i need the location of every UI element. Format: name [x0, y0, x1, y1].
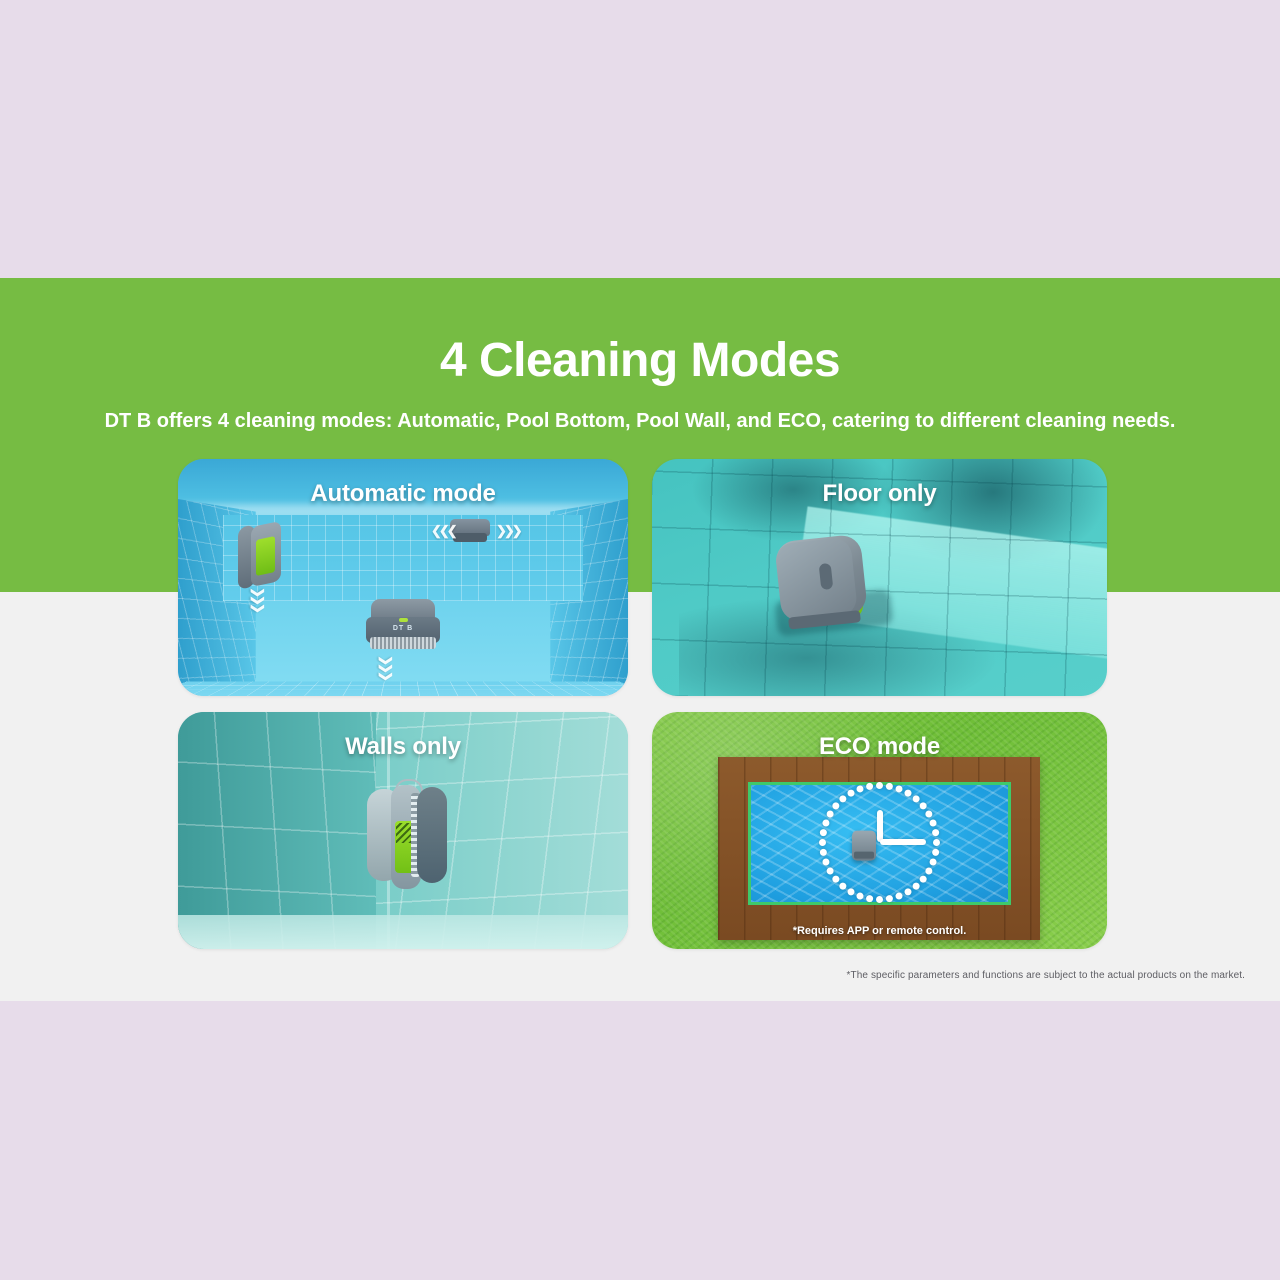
mode-card-walls-only[interactable]: Walls only	[178, 712, 628, 949]
chevron-right-icon: ❯❯❯	[496, 523, 520, 539]
mode-card-eco[interactable]: ECO mode *Requires APP or remote control…	[652, 712, 1107, 949]
product-feature-page: 4 Cleaning Modes DT B offers 4 cleaning …	[0, 0, 1280, 1280]
robot-on-wall	[367, 785, 453, 891]
chevron-up-icon: ❯❯❯	[250, 587, 266, 611]
card-label-automatic: Automatic mode	[178, 480, 628, 508]
page-subtitle: DT B offers 4 cleaning modes: Automatic,…	[0, 408, 1280, 434]
cleaning-modes-grid: ❯❯❯ ❮❮❮ ❯❯❯ DT B ❯❯❯ Automatic mode	[178, 459, 1107, 949]
chevron-down-icon: ❯❯❯	[378, 655, 394, 679]
card-label-eco: ECO mode	[652, 733, 1107, 761]
robot-climbing-wall	[238, 518, 284, 594]
mode-card-floor-only[interactable]: Floor only	[652, 459, 1107, 696]
robot-on-floor: DT B	[366, 599, 440, 655]
card-label-walls-only: Walls only	[178, 733, 628, 761]
card-label-floor-only: Floor only	[652, 480, 1107, 508]
pool-floor-edge	[178, 915, 628, 949]
bottom-background-band	[0, 1001, 1280, 1280]
mode-card-automatic[interactable]: ❯❯❯ ❮❮❮ ❯❯❯ DT B ❯❯❯ Automatic mode	[178, 459, 628, 696]
page-title: 4 Cleaning Modes	[0, 332, 1280, 390]
clock-minute-hand-icon	[880, 839, 926, 845]
robot-top-view	[775, 532, 889, 640]
clock-hour-hand-icon	[877, 810, 883, 842]
footer-disclaimer: *The specific parameters and functions a…	[847, 970, 1245, 981]
chevron-left-icon: ❮❮❮	[431, 523, 455, 539]
top-background-band	[0, 0, 1280, 278]
robot-on-back-wall	[450, 519, 490, 545]
eco-requirement-note: *Requires APP or remote control.	[652, 925, 1107, 937]
robot-model-tag: DT B	[366, 625, 440, 632]
